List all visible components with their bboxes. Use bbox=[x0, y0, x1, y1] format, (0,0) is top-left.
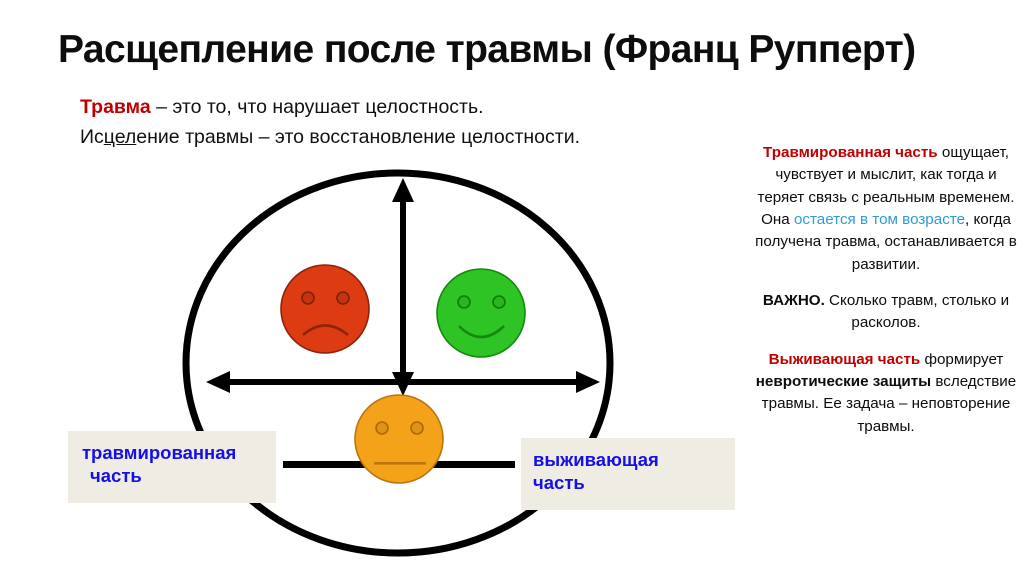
page-title: Расщепление после травмы (Франц Рупперт) bbox=[58, 30, 988, 71]
note-paragraph-surviving: Выживающая часть формирует невротические… bbox=[752, 349, 1020, 438]
note-keyword-surviving-part: Выживающая часть bbox=[769, 351, 921, 368]
label-traumatized-part-line2: часть bbox=[82, 464, 264, 487]
note-p2-text-1: Сколько травм, столько и расколов. bbox=[825, 292, 1009, 331]
subtitle-block: Травма – это то, что нарушает целостност… bbox=[80, 92, 740, 152]
subtitle-line-1: Травма – это то, что нарушает целостност… bbox=[80, 92, 740, 122]
subtitle-line-2: Исцеление травмы – это восстановление це… bbox=[80, 122, 740, 152]
note-keyword-traumatized-part: Травмированная часть bbox=[763, 144, 938, 161]
traumatized-face bbox=[281, 265, 369, 353]
note-paragraph-traumatized: Травмированная часть ощущает, чувствует … bbox=[752, 142, 1020, 276]
subtitle-keyword-trauma: Травма bbox=[80, 96, 151, 118]
notes-column: Травмированная часть ощущает, чувствует … bbox=[752, 142, 1020, 438]
subtitle-line-2-part-1: Ис bbox=[80, 126, 104, 148]
note-p3-text-1: формирует bbox=[920, 351, 1003, 368]
label-surviving-part-line1: выживающая bbox=[533, 448, 723, 471]
vertical-split-arrow bbox=[392, 178, 414, 396]
note-paragraph-important: ВАЖНО. Сколько травм, столько и расколов… bbox=[752, 290, 1020, 335]
subtitle-line-2-part-2: ение травмы – это восстановление целостн… bbox=[136, 126, 580, 148]
label-traumatized-part-line1: травмированная bbox=[82, 441, 264, 464]
surviving-face bbox=[437, 269, 525, 357]
label-surviving-part: выживающая часть bbox=[521, 438, 735, 510]
subtitle-line-2-underlined: цел bbox=[104, 126, 137, 148]
note-highlight-stays-at-age: остается в том возрасте bbox=[794, 211, 965, 228]
label-traumatized-part: травмированная часть bbox=[68, 431, 276, 503]
note-keyword-important: ВАЖНО. bbox=[763, 292, 825, 309]
subtitle-line-1-rest: – это то, что нарушает целостность. bbox=[151, 96, 484, 118]
note-keyword-neurotic-defenses: невротические защиты bbox=[756, 373, 931, 390]
label-surviving-part-line2: часть bbox=[533, 471, 723, 494]
slide-canvas: Расщепление после травмы (Франц Рупперт)… bbox=[0, 0, 1024, 574]
healthy-face bbox=[355, 395, 443, 483]
split-diagram: травмированная часть выживающая часть зд… bbox=[0, 150, 760, 574]
